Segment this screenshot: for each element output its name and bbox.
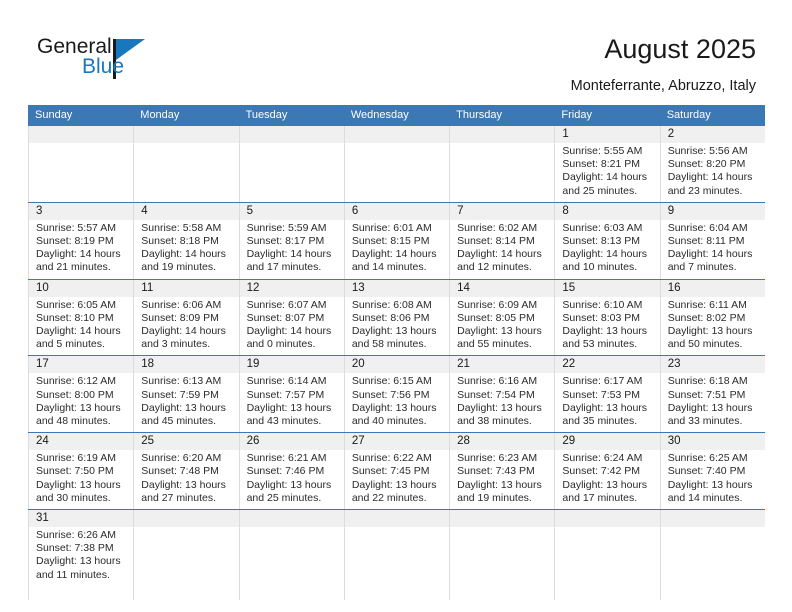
calendar-day-cell-empty [28,126,133,202]
day-number: 30 [661,433,765,450]
day-detail-line: Daylight: 14 hours [668,171,759,184]
day-sun-details [450,527,554,533]
calendar-day-cell-27[interactable]: 27Sunrise: 6:22 AMSunset: 7:45 PMDayligh… [344,433,449,509]
day-detail-line: Sunset: 8:18 PM [141,235,232,248]
day-sun-details [240,143,344,149]
calendar-day-cell-31[interactable]: 31Sunrise: 6:26 AMSunset: 7:38 PMDayligh… [28,510,133,600]
calendar-day-cell-empty [133,510,238,600]
calendar-day-cell-6[interactable]: 6Sunrise: 6:01 AMSunset: 8:15 PMDaylight… [344,203,449,279]
day-sun-details [240,527,344,533]
calendar-day-cell-13[interactable]: 13Sunrise: 6:08 AMSunset: 8:06 PMDayligh… [344,280,449,356]
day-sun-details [29,143,133,149]
day-number [345,510,449,527]
day-detail-line: and 27 minutes. [141,492,232,505]
day-detail-line: Sunset: 7:46 PM [247,465,338,478]
day-detail-line: Sunrise: 6:03 AM [562,222,653,235]
day-detail-line: Sunrise: 6:24 AM [562,452,653,465]
calendar-day-cell-5[interactable]: 5Sunrise: 5:59 AMSunset: 8:17 PMDaylight… [239,203,344,279]
day-number: 4 [134,203,238,220]
day-number: 23 [661,356,765,373]
day-detail-line: and 45 minutes. [141,415,232,428]
calendar-day-cell-29[interactable]: 29Sunrise: 6:24 AMSunset: 7:42 PMDayligh… [554,433,659,509]
day-detail-line: Daylight: 13 hours [352,402,443,415]
calendar-day-cell-1[interactable]: 1Sunrise: 5:55 AMSunset: 8:21 PMDaylight… [554,126,659,202]
day-detail-line: Sunset: 8:19 PM [36,235,127,248]
day-detail-line: Sunset: 7:40 PM [668,465,759,478]
calendar-week-row: 24Sunrise: 6:19 AMSunset: 7:50 PMDayligh… [28,432,765,509]
day-sun-details: Sunrise: 6:13 AMSunset: 7:59 PMDaylight:… [134,373,238,432]
day-sun-details: Sunrise: 6:21 AMSunset: 7:46 PMDaylight:… [240,450,344,509]
day-sun-details [661,527,765,533]
day-sun-details: Sunrise: 6:09 AMSunset: 8:05 PMDaylight:… [450,297,554,356]
day-detail-line: and 38 minutes. [457,415,548,428]
day-number: 16 [661,280,765,297]
day-detail-line: Sunrise: 6:14 AM [247,375,338,388]
day-detail-line: Sunset: 7:53 PM [562,389,653,402]
day-detail-line: and 58 minutes. [352,338,443,351]
weekday-header-monday: Monday [133,105,238,126]
day-number [29,126,133,143]
day-number: 10 [29,280,133,297]
day-number: 28 [450,433,554,450]
calendar-day-cell-4[interactable]: 4Sunrise: 5:58 AMSunset: 8:18 PMDaylight… [133,203,238,279]
day-detail-line: and 43 minutes. [247,415,338,428]
day-detail-line: and 3 minutes. [141,338,232,351]
day-detail-line: Sunset: 8:07 PM [247,312,338,325]
calendar-week-row: 1Sunrise: 5:55 AMSunset: 8:21 PMDaylight… [28,126,765,202]
logo-text-blue: Blue [82,56,124,78]
day-number: 8 [555,203,659,220]
day-detail-line: and 10 minutes. [562,261,653,274]
day-detail-line: Sunrise: 6:18 AM [668,375,759,388]
day-detail-line: Daylight: 13 hours [457,402,548,415]
page-title: August 2025 [604,33,756,65]
day-detail-line: and 22 minutes. [352,492,443,505]
day-detail-line: and 0 minutes. [247,338,338,351]
calendar-day-cell-empty [344,126,449,202]
day-detail-line: and 35 minutes. [562,415,653,428]
day-sun-details: Sunrise: 6:19 AMSunset: 7:50 PMDaylight:… [29,450,133,509]
day-sun-details: Sunrise: 6:17 AMSunset: 7:53 PMDaylight:… [555,373,659,432]
day-sun-details [555,527,659,533]
calendar-week-row: 3Sunrise: 5:57 AMSunset: 8:19 PMDaylight… [28,202,765,279]
general-blue-logo[interactable]: General Blue [37,36,167,88]
day-detail-line: Daylight: 14 hours [352,248,443,261]
day-number [134,126,238,143]
day-sun-details: Sunrise: 6:24 AMSunset: 7:42 PMDaylight:… [555,450,659,509]
day-detail-line: and 19 minutes. [141,261,232,274]
day-sun-details: Sunrise: 5:59 AMSunset: 8:17 PMDaylight:… [240,220,344,279]
day-sun-details: Sunrise: 5:57 AMSunset: 8:19 PMDaylight:… [29,220,133,279]
day-number: 24 [29,433,133,450]
day-detail-line: Sunset: 7:42 PM [562,465,653,478]
day-number: 27 [345,433,449,450]
day-detail-line: Sunset: 8:00 PM [36,389,127,402]
day-detail-line: Daylight: 14 hours [36,248,127,261]
day-number [661,510,765,527]
day-detail-line: Daylight: 13 hours [457,325,548,338]
day-number: 18 [134,356,238,373]
calendar-day-cell-14[interactable]: 14Sunrise: 6:09 AMSunset: 8:05 PMDayligh… [449,280,554,356]
day-detail-line: and 30 minutes. [36,492,127,505]
day-number: 5 [240,203,344,220]
weekday-header-wednesday: Wednesday [344,105,449,126]
day-sun-details: Sunrise: 6:14 AMSunset: 7:57 PMDaylight:… [240,373,344,432]
calendar-day-cell-3[interactable]: 3Sunrise: 5:57 AMSunset: 8:19 PMDaylight… [28,203,133,279]
day-number: 13 [345,280,449,297]
day-sun-details: Sunrise: 6:02 AMSunset: 8:14 PMDaylight:… [450,220,554,279]
calendar-day-cell-empty [449,510,554,600]
day-sun-details: Sunrise: 6:16 AMSunset: 7:54 PMDaylight:… [450,373,554,432]
day-detail-line: Sunrise: 5:56 AM [668,145,759,158]
day-detail-line: Sunset: 8:10 PM [36,312,127,325]
calendar-day-cell-25[interactable]: 25Sunrise: 6:20 AMSunset: 7:48 PMDayligh… [133,433,238,509]
day-detail-line: Sunrise: 6:02 AM [457,222,548,235]
calendar-day-cell-15[interactable]: 15Sunrise: 6:10 AMSunset: 8:03 PMDayligh… [554,280,659,356]
day-detail-line: Sunset: 7:54 PM [457,389,548,402]
calendar-day-cell-18[interactable]: 18Sunrise: 6:13 AMSunset: 7:59 PMDayligh… [133,356,238,432]
day-detail-line: and 17 minutes. [247,261,338,274]
day-number: 29 [555,433,659,450]
day-detail-line: Daylight: 13 hours [352,479,443,492]
weekday-header-saturday: Saturday [660,105,765,126]
day-sun-details: Sunrise: 6:11 AMSunset: 8:02 PMDaylight:… [661,297,765,356]
day-detail-line: and 48 minutes. [36,415,127,428]
calendar-day-cell-23[interactable]: 23Sunrise: 6:18 AMSunset: 7:51 PMDayligh… [660,356,765,432]
day-detail-line: Daylight: 13 hours [668,325,759,338]
day-detail-line: Sunrise: 6:15 AM [352,375,443,388]
day-number: 6 [345,203,449,220]
day-detail-line: and 17 minutes. [562,492,653,505]
calendar-day-cell-17[interactable]: 17Sunrise: 6:12 AMSunset: 8:00 PMDayligh… [28,356,133,432]
day-detail-line: Sunrise: 6:01 AM [352,222,443,235]
calendar-day-cell-12[interactable]: 12Sunrise: 6:07 AMSunset: 8:07 PMDayligh… [239,280,344,356]
calendar-weeks: 1Sunrise: 5:55 AMSunset: 8:21 PMDaylight… [28,126,765,600]
calendar-day-cell-21[interactable]: 21Sunrise: 6:16 AMSunset: 7:54 PMDayligh… [449,356,554,432]
day-detail-line: Daylight: 14 hours [247,325,338,338]
day-detail-line: Sunset: 7:43 PM [457,465,548,478]
day-detail-line: Sunrise: 6:13 AM [141,375,232,388]
day-sun-details [345,143,449,149]
day-detail-line: Sunrise: 6:20 AM [141,452,232,465]
day-number: 21 [450,356,554,373]
day-detail-line: Daylight: 14 hours [247,248,338,261]
day-number [240,126,344,143]
calendar-day-cell-empty [239,510,344,600]
calendar-day-cell-2[interactable]: 2Sunrise: 5:56 AMSunset: 8:20 PMDaylight… [660,126,765,202]
day-detail-line: Sunrise: 6:04 AM [668,222,759,235]
day-detail-line: and 33 minutes. [668,415,759,428]
day-sun-details: Sunrise: 6:20 AMSunset: 7:48 PMDaylight:… [134,450,238,509]
day-sun-details [134,527,238,533]
weekday-header-row: SundayMondayTuesdayWednesdayThursdayFrid… [28,105,765,126]
day-detail-line: Sunrise: 5:55 AM [562,145,653,158]
day-number: 20 [345,356,449,373]
day-detail-line: Daylight: 13 hours [36,402,127,415]
day-number: 12 [240,280,344,297]
calendar-day-cell-empty [133,126,238,202]
day-sun-details: Sunrise: 6:05 AMSunset: 8:10 PMDaylight:… [29,297,133,356]
calendar-week-row: 31Sunrise: 6:26 AMSunset: 7:38 PMDayligh… [28,509,765,600]
day-detail-line: Sunset: 8:13 PM [562,235,653,248]
weekday-header-tuesday: Tuesday [239,105,344,126]
weekday-header-sunday: Sunday [28,105,133,126]
calendar-day-cell-11[interactable]: 11Sunrise: 6:06 AMSunset: 8:09 PMDayligh… [133,280,238,356]
day-detail-line: Sunrise: 6:06 AM [141,299,232,312]
day-sun-details: Sunrise: 6:22 AMSunset: 7:45 PMDaylight:… [345,450,449,509]
day-detail-line: Sunrise: 6:26 AM [36,529,127,542]
calendar-day-cell-empty [660,510,765,600]
calendar-day-cell-7[interactable]: 7Sunrise: 6:02 AMSunset: 8:14 PMDaylight… [449,203,554,279]
day-number: 2 [661,126,765,143]
day-sun-details: Sunrise: 6:18 AMSunset: 7:51 PMDaylight:… [661,373,765,432]
day-detail-line: Sunset: 8:03 PM [562,312,653,325]
calendar-day-cell-empty [554,510,659,600]
day-detail-line: Sunrise: 6:09 AM [457,299,548,312]
day-number [345,126,449,143]
calendar-day-cell-8[interactable]: 8Sunrise: 6:03 AMSunset: 8:13 PMDaylight… [554,203,659,279]
day-detail-line: Daylight: 13 hours [562,479,653,492]
day-sun-details: Sunrise: 6:10 AMSunset: 8:03 PMDaylight:… [555,297,659,356]
day-detail-line: Daylight: 14 hours [668,248,759,261]
day-number: 26 [240,433,344,450]
day-number: 9 [661,203,765,220]
day-number: 1 [555,126,659,143]
page-header: General Blue August 2025 Monteferrante, … [0,0,792,104]
day-detail-line: Sunset: 7:59 PM [141,389,232,402]
calendar-day-cell-28[interactable]: 28Sunrise: 6:23 AMSunset: 7:43 PMDayligh… [449,433,554,509]
day-detail-line: Sunset: 7:50 PM [36,465,127,478]
day-detail-line: Daylight: 13 hours [36,555,127,568]
day-detail-line: Sunrise: 5:57 AM [36,222,127,235]
day-detail-line: Sunrise: 6:16 AM [457,375,548,388]
day-detail-line: Sunrise: 6:12 AM [36,375,127,388]
day-detail-line: Sunset: 8:06 PM [352,312,443,325]
day-detail-line: Daylight: 14 hours [141,248,232,261]
day-detail-line: and 12 minutes. [457,261,548,274]
day-detail-line: and 55 minutes. [457,338,548,351]
day-detail-line: and 21 minutes. [36,261,127,274]
day-detail-line: Sunrise: 6:22 AM [352,452,443,465]
day-number: 3 [29,203,133,220]
day-detail-line: Daylight: 13 hours [352,325,443,338]
day-detail-line: Daylight: 13 hours [562,402,653,415]
day-detail-line: and 5 minutes. [36,338,127,351]
day-number [134,510,238,527]
day-detail-line: Sunset: 8:05 PM [457,312,548,325]
calendar-day-cell-26[interactable]: 26Sunrise: 6:21 AMSunset: 7:46 PMDayligh… [239,433,344,509]
calendar-day-cell-empty [344,510,449,600]
day-detail-line: and 25 minutes. [247,492,338,505]
day-detail-line: Sunrise: 6:19 AM [36,452,127,465]
day-detail-line: Sunrise: 5:59 AM [247,222,338,235]
day-detail-line: Sunset: 7:56 PM [352,389,443,402]
calendar-day-cell-empty [239,126,344,202]
day-detail-line: Daylight: 13 hours [457,479,548,492]
day-sun-details [450,143,554,149]
day-detail-line: Sunset: 8:20 PM [668,158,759,171]
day-detail-line: and 50 minutes. [668,338,759,351]
day-detail-line: Daylight: 13 hours [668,402,759,415]
day-sun-details: Sunrise: 5:56 AMSunset: 8:20 PMDaylight:… [661,143,765,202]
page-subtitle-location: Monteferrante, Abruzzo, Italy [571,78,756,95]
day-number: 22 [555,356,659,373]
day-number [555,510,659,527]
day-detail-line: Daylight: 13 hours [668,479,759,492]
day-detail-line: and 23 minutes. [668,185,759,198]
day-sun-details: Sunrise: 6:06 AMSunset: 8:09 PMDaylight:… [134,297,238,356]
day-detail-line: and 14 minutes. [352,261,443,274]
calendar-day-cell-10[interactable]: 10Sunrise: 6:05 AMSunset: 8:10 PMDayligh… [28,280,133,356]
day-detail-line: Sunset: 7:38 PM [36,542,127,555]
day-detail-line: Sunset: 8:14 PM [457,235,548,248]
calendar-day-cell-9[interactable]: 9Sunrise: 6:04 AMSunset: 8:11 PMDaylight… [660,203,765,279]
day-detail-line: and 7 minutes. [668,261,759,274]
calendar-day-cell-19[interactable]: 19Sunrise: 6:14 AMSunset: 7:57 PMDayligh… [239,356,344,432]
weekday-header-thursday: Thursday [449,105,554,126]
day-detail-line: Sunset: 8:21 PM [562,158,653,171]
calendar-grid: SundayMondayTuesdayWednesdayThursdayFrid… [28,105,765,600]
day-sun-details: Sunrise: 6:25 AMSunset: 7:40 PMDaylight:… [661,450,765,509]
calendar-page: General Blue August 2025 Monteferrante, … [0,0,792,612]
day-detail-line: Daylight: 13 hours [247,479,338,492]
day-detail-line: Sunrise: 6:17 AM [562,375,653,388]
day-sun-details: Sunrise: 6:08 AMSunset: 8:06 PMDaylight:… [345,297,449,356]
day-sun-details: Sunrise: 6:03 AMSunset: 8:13 PMDaylight:… [555,220,659,279]
day-detail-line: Daylight: 14 hours [36,325,127,338]
day-detail-line: Sunrise: 5:58 AM [141,222,232,235]
day-detail-line: Sunset: 8:17 PM [247,235,338,248]
day-detail-line: and 40 minutes. [352,415,443,428]
day-number: 31 [29,510,133,527]
day-detail-line: Sunrise: 6:11 AM [668,299,759,312]
day-detail-line: Daylight: 13 hours [141,479,232,492]
day-sun-details [134,143,238,149]
calendar-day-cell-30[interactable]: 30Sunrise: 6:25 AMSunset: 7:40 PMDayligh… [660,433,765,509]
day-number: 15 [555,280,659,297]
calendar-day-cell-22[interactable]: 22Sunrise: 6:17 AMSunset: 7:53 PMDayligh… [554,356,659,432]
day-number: 25 [134,433,238,450]
day-detail-line: Daylight: 14 hours [141,325,232,338]
calendar-day-cell-empty [449,126,554,202]
calendar-day-cell-20[interactable]: 20Sunrise: 6:15 AMSunset: 7:56 PMDayligh… [344,356,449,432]
day-sun-details: Sunrise: 5:55 AMSunset: 8:21 PMDaylight:… [555,143,659,202]
day-number: 11 [134,280,238,297]
calendar-week-row: 17Sunrise: 6:12 AMSunset: 8:00 PMDayligh… [28,355,765,432]
day-detail-line: Sunrise: 6:10 AM [562,299,653,312]
day-detail-line: Daylight: 14 hours [562,171,653,184]
calendar-day-cell-16[interactable]: 16Sunrise: 6:11 AMSunset: 8:02 PMDayligh… [660,280,765,356]
day-sun-details: Sunrise: 6:26 AMSunset: 7:38 PMDaylight:… [29,527,133,586]
day-detail-line: Sunrise: 6:21 AM [247,452,338,465]
day-detail-line: Sunrise: 6:08 AM [352,299,443,312]
day-detail-line: Daylight: 13 hours [562,325,653,338]
day-detail-line: Sunset: 7:45 PM [352,465,443,478]
day-sun-details [345,527,449,533]
day-number: 19 [240,356,344,373]
day-sun-details: Sunrise: 6:23 AMSunset: 7:43 PMDaylight:… [450,450,554,509]
day-sun-details: Sunrise: 6:01 AMSunset: 8:15 PMDaylight:… [345,220,449,279]
day-detail-line: and 11 minutes. [36,569,127,582]
day-detail-line: Sunset: 8:15 PM [352,235,443,248]
day-number [450,510,554,527]
calendar-day-cell-24[interactable]: 24Sunrise: 6:19 AMSunset: 7:50 PMDayligh… [28,433,133,509]
day-detail-line: Daylight: 14 hours [562,248,653,261]
day-sun-details: Sunrise: 5:58 AMSunset: 8:18 PMDaylight:… [134,220,238,279]
day-detail-line: Sunset: 7:51 PM [668,389,759,402]
day-sun-details: Sunrise: 6:12 AMSunset: 8:00 PMDaylight:… [29,373,133,432]
day-number [240,510,344,527]
day-detail-line: and 14 minutes. [668,492,759,505]
day-number: 14 [450,280,554,297]
day-detail-line: and 25 minutes. [562,185,653,198]
day-sun-details: Sunrise: 6:15 AMSunset: 7:56 PMDaylight:… [345,373,449,432]
day-detail-line: Sunrise: 6:07 AM [247,299,338,312]
calendar-week-row: 10Sunrise: 6:05 AMSunset: 8:10 PMDayligh… [28,279,765,356]
day-detail-line: Daylight: 13 hours [36,479,127,492]
day-detail-line: Sunset: 7:57 PM [247,389,338,402]
day-detail-line: Sunset: 8:11 PM [668,235,759,248]
day-detail-line: Sunrise: 6:25 AM [668,452,759,465]
day-detail-line: Sunset: 8:09 PM [141,312,232,325]
day-number: 7 [450,203,554,220]
day-sun-details: Sunrise: 6:07 AMSunset: 8:07 PMDaylight:… [240,297,344,356]
day-number: 17 [29,356,133,373]
weekday-header-friday: Friday [554,105,659,126]
day-sun-details: Sunrise: 6:04 AMSunset: 8:11 PMDaylight:… [661,220,765,279]
day-detail-line: Sunrise: 6:23 AM [457,452,548,465]
day-detail-line: Sunset: 8:02 PM [668,312,759,325]
day-detail-line: and 53 minutes. [562,338,653,351]
day-detail-line: Daylight: 14 hours [457,248,548,261]
day-detail-line: Daylight: 13 hours [247,402,338,415]
day-detail-line: Sunrise: 6:05 AM [36,299,127,312]
day-number [450,126,554,143]
day-detail-line: Daylight: 13 hours [141,402,232,415]
day-detail-line: and 19 minutes. [457,492,548,505]
day-detail-line: Sunset: 7:48 PM [141,465,232,478]
